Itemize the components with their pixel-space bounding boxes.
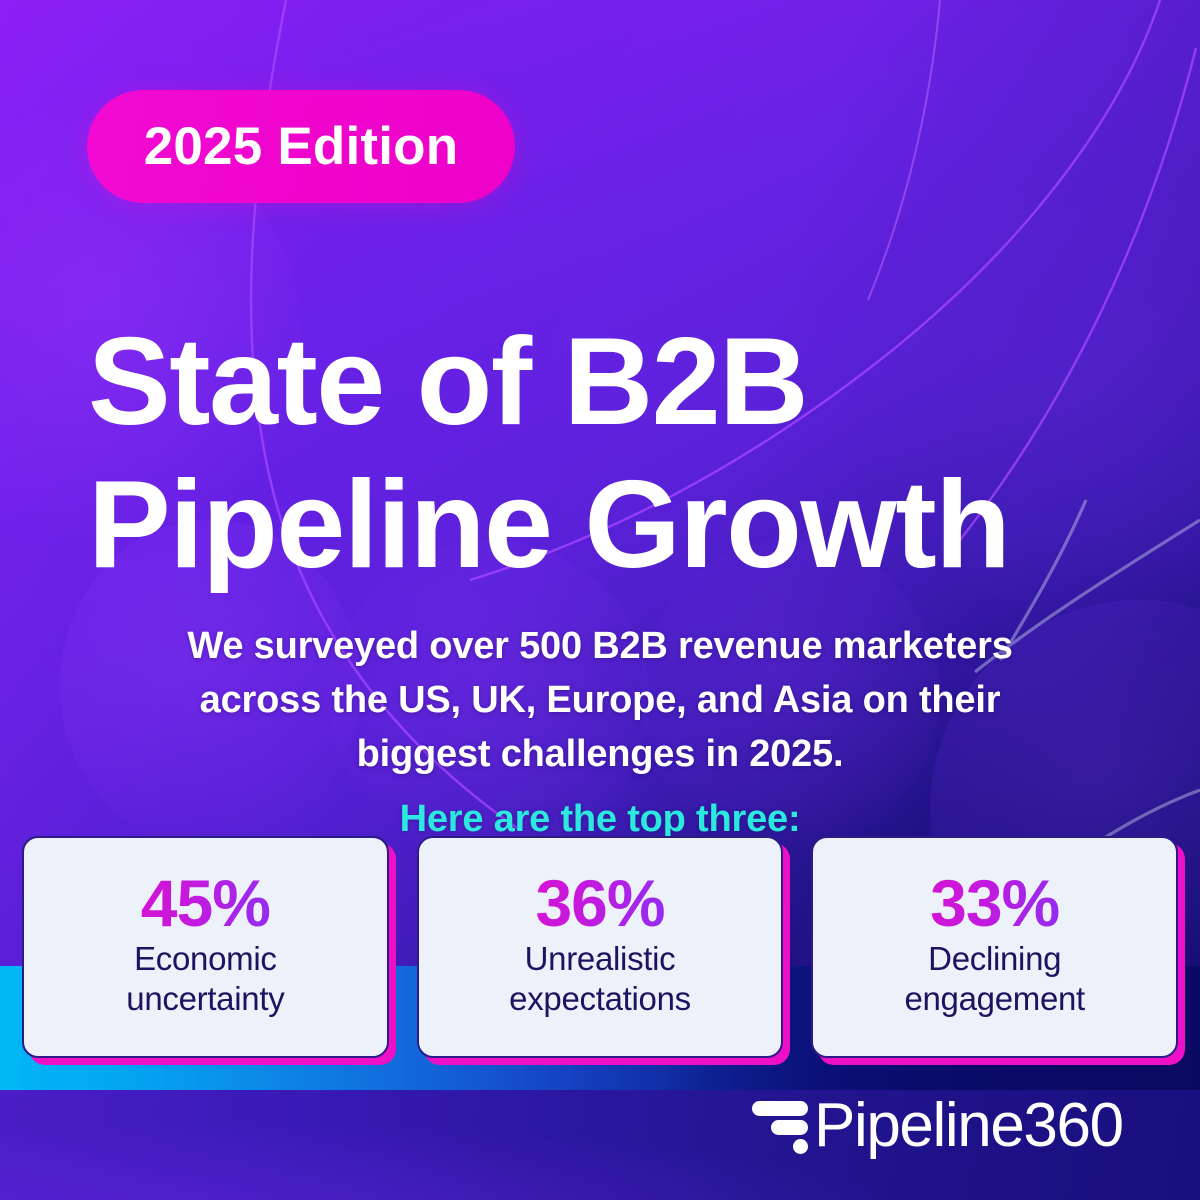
stat-label-line-1: Economic	[126, 939, 284, 979]
cyan-left-stub	[0, 966, 22, 1090]
pipeline-funnel-icon	[752, 1099, 808, 1153]
stat-label-line-1: Declining	[904, 939, 1084, 979]
survey-description-line-2: across the US, UK, Europe, and Asia on t…	[100, 674, 1100, 728]
survey-description-line-1: We surveyed over 500 B2B revenue markete…	[100, 620, 1100, 674]
stat-card-declining-engagement: 33% Declining engagement	[811, 836, 1178, 1058]
stat-label-line-2: engagement	[904, 979, 1084, 1019]
page-title-line-2: Pipeline Growth	[88, 454, 1148, 597]
stat-percent: 36%	[535, 870, 664, 937]
stat-label-line-2: uncertainty	[126, 979, 284, 1019]
brand-name: Pipeline360	[814, 1095, 1123, 1157]
survey-description-line-3: biggest challenges in 2025.	[100, 728, 1100, 782]
edition-badge-label: 2025 Edition	[144, 120, 459, 173]
infographic-canvas: 2025 Edition State of B2B Pipeline Growt…	[0, 0, 1200, 1200]
stat-label: Unrealistic expectations	[509, 939, 691, 1018]
stat-percent: 33%	[930, 870, 1059, 937]
stat-label: Economic uncertainty	[126, 939, 284, 1018]
page-title-line-1: State of B2B	[88, 311, 1148, 454]
stat-card-unrealistic-expectations: 36% Unrealistic expectations	[417, 836, 784, 1058]
top-three-kicker: Here are the top three:	[100, 798, 1100, 841]
funnel-bar-middle	[771, 1120, 808, 1135]
stat-card-list: 45% Economic uncertainty 36% Unrealistic…	[22, 836, 1178, 1058]
stat-percent: 45%	[141, 870, 270, 937]
funnel-bar-top	[752, 1101, 808, 1116]
funnel-dot	[793, 1139, 808, 1154]
stat-label-line-1: Unrealistic	[509, 939, 691, 979]
stat-label: Declining engagement	[904, 939, 1084, 1018]
brand-logo: Pipeline360	[752, 1088, 1123, 1164]
edition-badge: 2025 Edition	[87, 90, 515, 203]
page-title: State of B2B Pipeline Growth	[88, 311, 1148, 596]
survey-description: We surveyed over 500 B2B revenue markete…	[100, 620, 1100, 782]
stat-label-line-2: expectations	[509, 979, 691, 1019]
stat-card-economic-uncertainty: 45% Economic uncertainty	[22, 836, 389, 1058]
